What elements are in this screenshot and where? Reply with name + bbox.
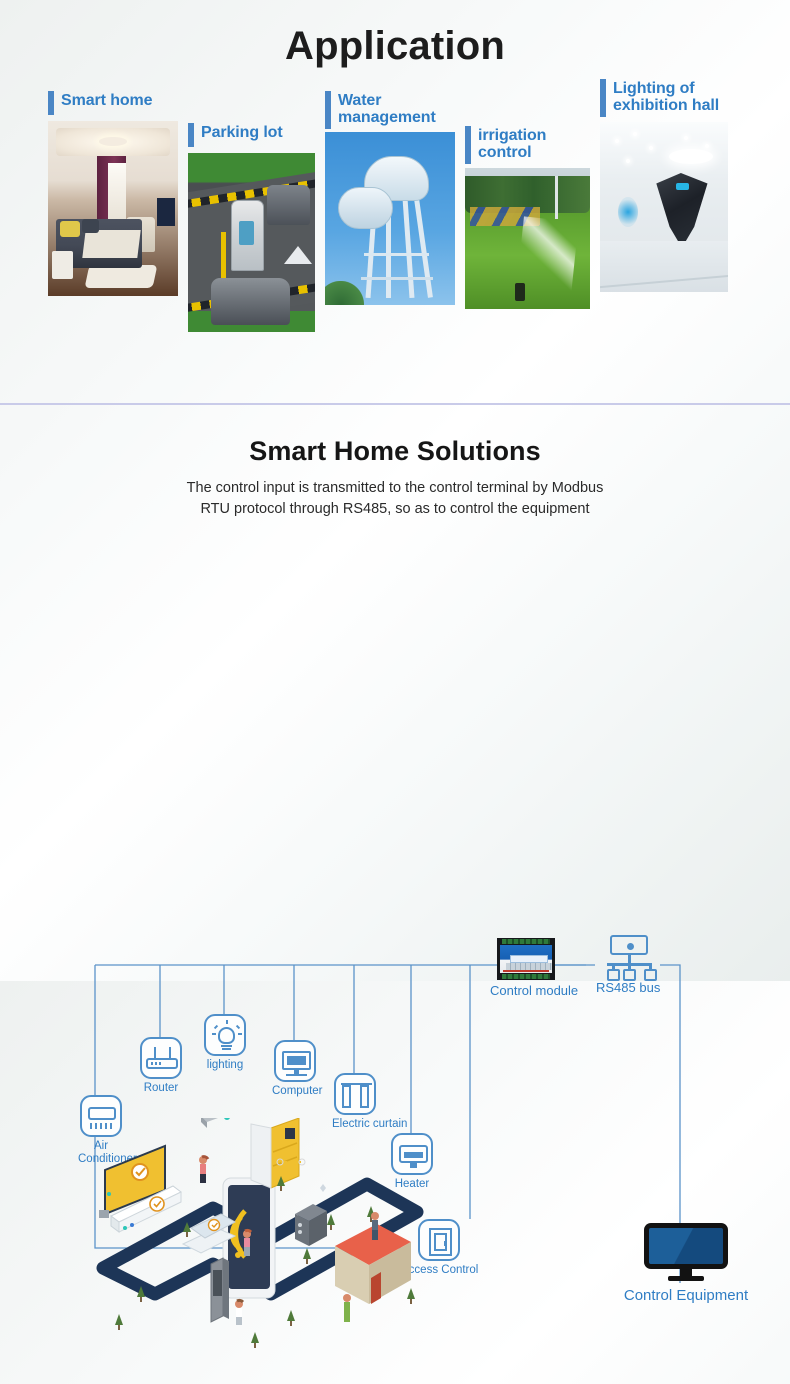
node-label: Control Equipment [596, 1288, 776, 1305]
node-label: Computer [272, 1085, 318, 1098]
lawn-sprinkler-photo [465, 168, 590, 309]
node-router[interactable]: Router [138, 1037, 184, 1095]
card-head: irrigation control [465, 126, 590, 164]
application-cards: Smart home Parking lot [0, 91, 790, 371]
curtain-icon [334, 1073, 376, 1115]
solutions-section: Smart Home Solutions The control input i… [0, 403, 790, 981]
bedroom-interior-photo [48, 121, 178, 296]
water-tower-photo [325, 132, 455, 305]
water-management-photo [325, 132, 455, 305]
monitor-icon [274, 1040, 316, 1082]
accent-bar [465, 126, 471, 164]
exhibition-hall-interior-photo [600, 122, 728, 292]
application-card-smart-home[interactable]: Smart home [48, 91, 178, 296]
router-icon [140, 1037, 182, 1079]
card-head: Lighting of exhibition hall [600, 79, 745, 117]
card-label: irrigation control [478, 126, 546, 162]
parking-lot-gate-photo [188, 153, 315, 332]
accent-bar [188, 123, 194, 147]
card-label: Parking lot [201, 123, 283, 141]
node-rs485-bus[interactable]: RS485 bus [596, 935, 716, 996]
application-card-exhibition-lighting[interactable]: Lighting of exhibition hall [600, 79, 745, 292]
card-head: Smart home [48, 91, 178, 115]
application-card-parking-lot[interactable]: Parking lot [188, 123, 315, 332]
card-label: Smart home [61, 91, 152, 109]
node-label: RS485 bus [596, 981, 716, 996]
application-card-water-management[interactable]: Water management [325, 91, 455, 305]
node-label: Router [138, 1082, 184, 1095]
network-hierarchy-icon [596, 935, 716, 983]
card-head: Water management [325, 91, 455, 129]
node-control-equipment[interactable]: Control Equipment [596, 1223, 776, 1305]
node-computer[interactable]: Computer [272, 1040, 318, 1098]
accent-bar [325, 91, 331, 129]
application-section: Application Smart home Parking lot [0, 0, 790, 403]
desktop-monitor-icon [644, 1223, 728, 1281]
isometric-smart-home-scene [95, 1118, 425, 1358]
node-lighting[interactable]: lighting [202, 1014, 248, 1072]
light-bulb-icon [204, 1014, 246, 1056]
card-head: Parking lot [188, 123, 315, 147]
node-label: lighting [202, 1059, 248, 1072]
irrigation-control-photo [465, 168, 590, 309]
smart-home-photo [48, 121, 178, 296]
application-card-irrigation-control[interactable]: irrigation control [465, 126, 590, 309]
exhibition-hall-photo [600, 122, 728, 292]
relay-module-device [497, 938, 555, 980]
accent-bar [48, 91, 54, 115]
page-title: Application [0, 0, 790, 69]
accent-bar [600, 79, 606, 117]
parking-lot-photo [188, 153, 315, 332]
card-label: Lighting of exhibition hall [613, 79, 719, 115]
card-label: Water management [338, 91, 436, 127]
network-diagram: Air Conditioner Router lighting Computer [0, 403, 790, 981]
